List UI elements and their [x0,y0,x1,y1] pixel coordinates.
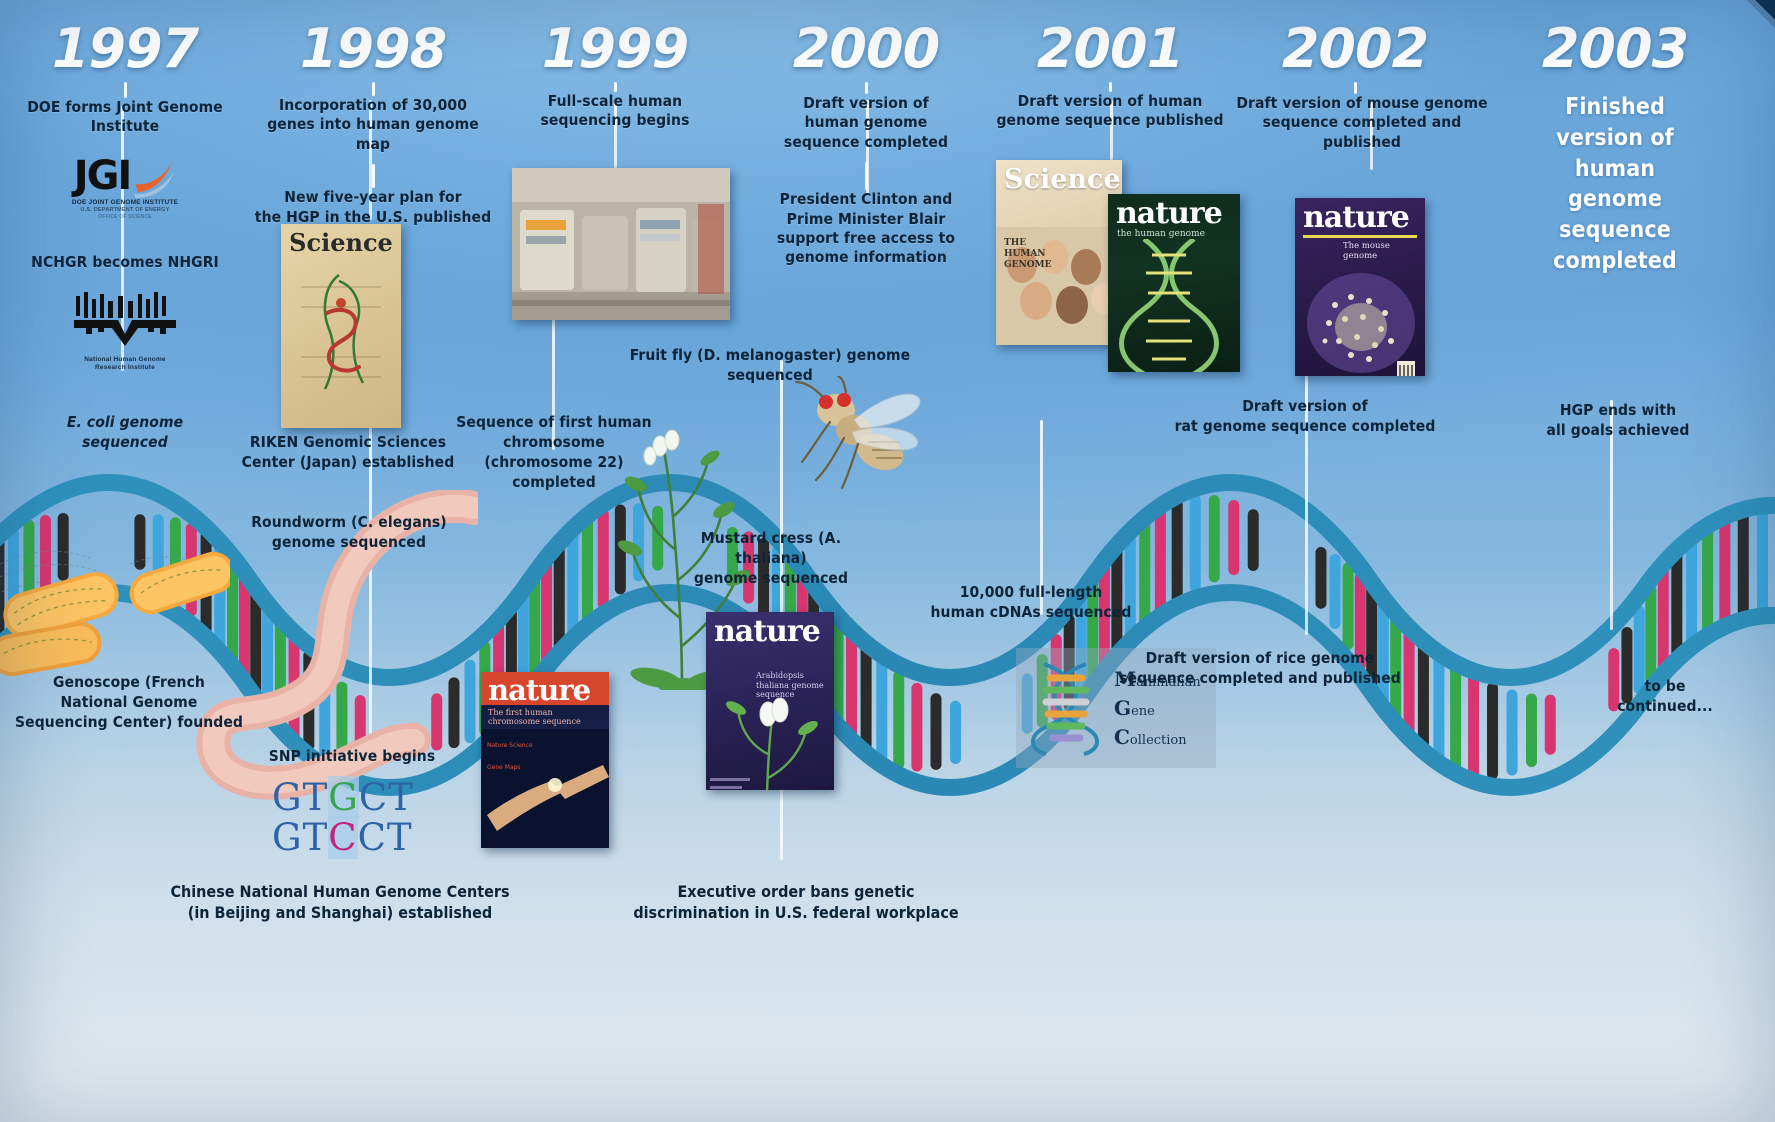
nature-2002-cover: nature The mouse genome [1295,198,1425,376]
mgc-word-collection: ollection [1130,733,1187,748]
year-label-2000: 2000 [741,22,991,76]
nature-2002-art [1295,261,1425,376]
rat-caption: Draft version of rat genome sequence com… [1168,396,1442,436]
nhgri-mark-icon [60,290,190,352]
tobecontinued-caption: to be continued... [1590,676,1740,716]
nhgri-logo: National Human Genome Research Institute [0,290,250,380]
year-label-2001: 2001 [985,22,1235,76]
nature-2000-art [706,692,834,790]
science-1998-brand: Science [281,231,401,255]
ecoli-caption: E. coli genome sequenced [30,412,220,452]
svg-text:Gene Maps: Gene Maps [487,764,521,771]
year-column-1999: 1999 Full-scale human sequencing begins [490,0,740,131]
year-column-2003: 2003 Finished version of human genome se… [1490,0,1740,277]
snp-bottom-0: G [272,816,303,859]
event-2003-0: Finished version of human genome sequenc… [1502,92,1728,277]
snp-caption: SNP initiative begins [244,746,460,766]
svg-text:HUMAN: HUMAN [1004,249,1046,259]
year-column-2001: 2001 Draft version of human genome seque… [985,0,1235,131]
science-2001-art: THEHUMANGENOME [996,193,1122,345]
nature-1999-brand: nature [481,672,609,705]
year-column-1997: 1997 DOE forms Joint Genome Institute JG… [0,0,250,380]
event-1997-1: NCHGR becomes NHGRI [12,253,238,272]
svg-text:Nature Science: Nature Science [487,742,533,749]
timeline-infographic: 1997 DOE forms Joint Genome Institute JG… [0,0,1775,1122]
jgi-logo-line1: DOE JOINT GENOME INSTITUTE [72,199,178,207]
snp-top-0: G [272,776,303,819]
hgp-ends-caption: HGP ends with all goals achieved [1498,400,1738,440]
snp-bottom-3: C [358,816,387,859]
year-column-1998: 1998 Incorporation of 30,000 genes into … [248,0,498,227]
year-label-2002: 2002 [1230,22,1480,76]
snp-top-2: G [328,776,359,819]
science-2001-cover: Science THEHUMANGENOME [996,160,1122,345]
fruitfly-illustration [792,376,922,496]
year-label-2003: 2003 [1490,22,1740,76]
snp-sequence: GTGCT GTCCT [272,778,414,858]
nhgri-logo-line2: Research Institute [0,364,250,372]
mgc-dna-icon [1024,658,1108,758]
jgi-logo-line3: OFFICE OF SCIENCE [72,214,178,220]
event-1998-1: New five-year plan for the HGP in the U.… [249,188,497,227]
snp-top-4: T [388,776,414,819]
snp-bottom-2: C [328,816,357,859]
nature-2001-cover: nature the human genome [1108,194,1240,372]
jgi-logo: JGI DOE JOINT GENOME INSTITUTE U.S. DEPA… [0,153,250,231]
year-label-1997: 1997 [0,22,250,76]
event-2002-0: Draft version of mouse genome sequence c… [1230,94,1494,152]
event-2000-0: Draft version of human genome sequence c… [753,94,979,152]
executive-order-note: Executive order bans genetic discriminat… [616,882,976,924]
event-2000-1: President Clinton and Prime Minister Bla… [753,190,979,268]
science-1998-cover: Science [281,224,401,428]
svg-text:GENOME: GENOME [1004,260,1052,270]
mgc-letter-c: C [1114,725,1130,749]
jgi-swoosh-icon [130,154,176,198]
cdna-caption: 10,000 full-length human cDNAs sequenced [912,582,1150,622]
nature-1999-art: Nature ScienceGene Maps [481,729,609,848]
mgc-word-gene: ene [1131,704,1155,719]
snp-bottom-4: T [387,816,413,859]
event-1999-0: Full-scale human sequencing begins [502,92,728,131]
jgi-logo-line2: U.S. DEPARTMENT OF ENERGY [72,207,178,214]
roundworm-caption: Roundworm (C. elegans) genome sequenced [234,512,464,552]
event-2001-0: Draft version of human genome sequence p… [986,92,1234,131]
riken-caption: RIKEN Genomic Sciences Center (Japan) es… [232,432,464,472]
mustardcress-caption: Mustard cress (A. thaliana) genome seque… [668,528,874,588]
chinese-centers-note: Chinese National Human Genome Centers (i… [168,882,512,924]
jgi-mark: JGI [74,153,131,199]
snp-bottom-1: T [303,816,329,859]
chr22-caption: Sequence of first human chromosome (chro… [454,412,654,493]
fruitfly-caption: Fruit fly (D. melanogaster) genome seque… [600,345,940,385]
event-1998-0: Incorporation of 30,000 genes into human… [249,96,497,154]
nature-2000-cover: nature Arabidopsis thaliana genome seque… [706,612,834,790]
nature-2001-art [1108,239,1240,372]
year-label-1998: 1998 [248,22,498,76]
nature-2001-brand: nature [1108,194,1240,229]
nature-1999-headline: The first human chromosome sequence [481,705,609,729]
year-label-1999: 1999 [490,22,740,76]
event-1997-0: DOE forms Joint Genome Institute [1,98,249,137]
nature-1999-cover: nature The first human chromosome sequen… [481,672,609,848]
genoscope-caption: Genoscope (French National Genome Sequen… [14,672,244,732]
sequencing-facility-photo [512,168,730,320]
mgc-letter-g: G [1114,696,1131,720]
nature-2000-brand: nature [706,612,834,647]
year-column-2000: 2000 Draft version of human genome seque… [741,0,991,268]
snp-top-3: C [359,776,388,819]
svg-text:THE: THE [1004,238,1026,248]
science-2001-brand: Science [996,160,1122,193]
nhgri-logo-line1: National Human Genome [0,356,250,364]
snp-top-1: T [303,776,329,819]
nature-2002-headline: The mouse genome [1295,241,1425,261]
year-column-2002: 2002 Draft version of mouse genome seque… [1230,0,1480,152]
science-1998-art [281,257,401,407]
rice-caption: Draft version of rice genome sequence co… [1110,648,1410,688]
nature-2002-brand: nature [1295,198,1425,233]
facility-photo-art [512,168,730,320]
